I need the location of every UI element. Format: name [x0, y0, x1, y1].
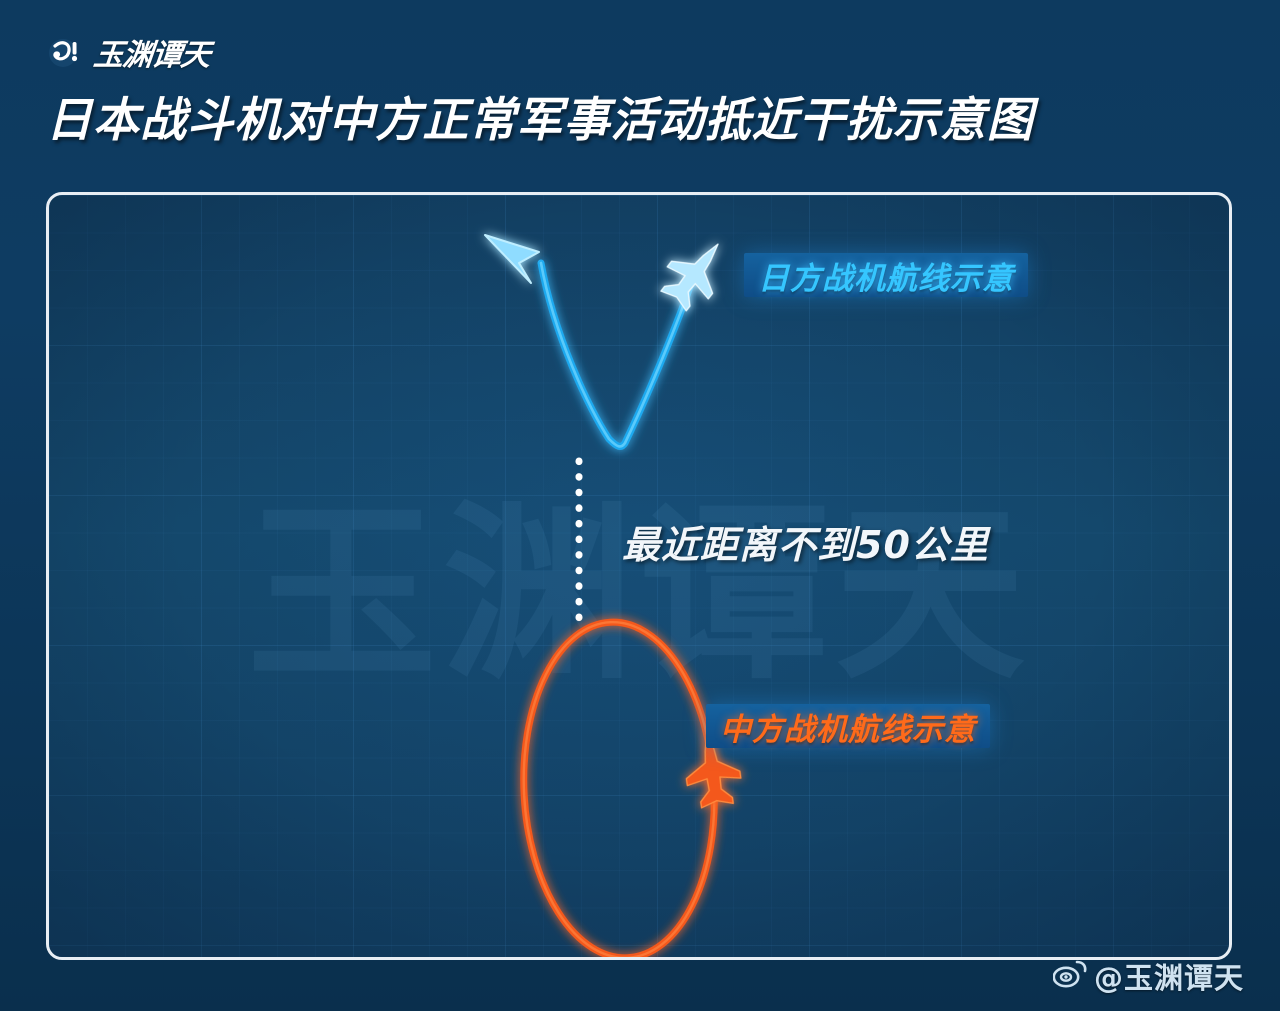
japan-route-label: 日方战机航线示意	[744, 253, 1028, 297]
weibo-bird-logo-icon	[46, 32, 86, 72]
brand-logo: 玉渊谭天	[46, 26, 210, 78]
china-route-label: 中方战机航线示意	[706, 704, 990, 748]
diagram-panel: 玉渊谭天	[46, 192, 1232, 960]
japan-route-arrowhead-icon	[485, 235, 539, 283]
japan-fighter-jet-icon	[653, 228, 738, 317]
weibo-handle: @玉渊谭天	[1094, 955, 1244, 997]
brand-name: 玉渊谭天	[92, 30, 213, 74]
china-route-path	[515, 617, 722, 960]
route-diagram	[49, 195, 1229, 957]
weibo-icon	[1053, 960, 1087, 993]
weibo-credit: @玉渊谭天	[1053, 955, 1244, 997]
distance-note: 最近距离不到50公里	[622, 514, 989, 569]
page-title: 日本战斗机对中方正常军事活动抵近干扰示意图	[46, 92, 1034, 150]
